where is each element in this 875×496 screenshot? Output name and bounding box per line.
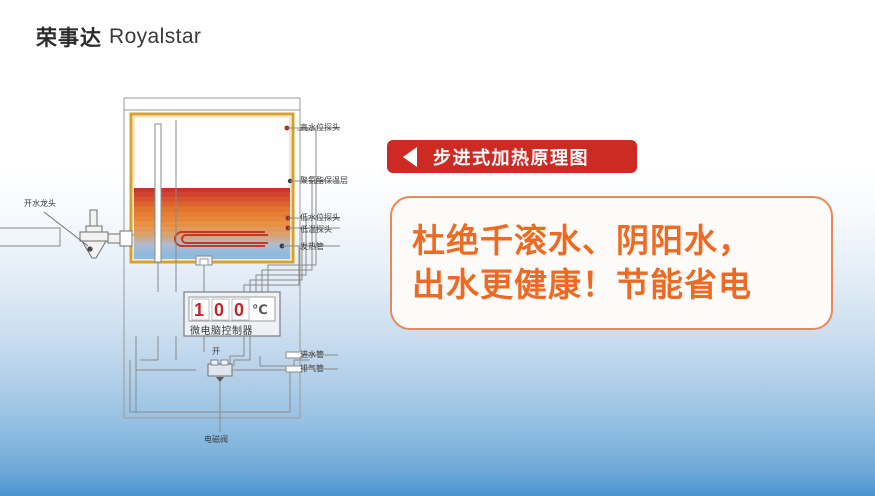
banner-title: 步进式加热原理图 — [433, 144, 589, 170]
label-valve-open: 开 — [212, 346, 220, 357]
label-high-water-probe: 高水位探头 — [300, 122, 340, 133]
controller-caption: 微电脑控制器 — [190, 322, 253, 337]
display-unit: ℃ — [252, 303, 268, 318]
brand-name-cn: 荣事达 — [36, 22, 102, 52]
probe-rod — [155, 124, 161, 262]
section-banner: 步进式加热原理图 — [387, 140, 637, 173]
solenoid-valve — [208, 360, 232, 382]
faucet-leader-line — [44, 212, 88, 246]
slogan-line-1: 杜绝千滚水、阴阳水， — [412, 219, 811, 263]
label-solenoid-valve: 电磁阀 — [204, 434, 228, 445]
label-heating-tube: 发热管 — [300, 241, 324, 252]
triangle-left-icon — [403, 147, 417, 167]
display-digit-3: 0 — [234, 300, 244, 321]
brand-name-en: Royalstar — [109, 25, 201, 49]
display-digit-2: 0 — [214, 300, 224, 321]
slogan-line-2: 出水更健康！节能省电 — [412, 263, 811, 307]
label-low-temp-probe: 低温探头 — [300, 224, 332, 235]
label-low-water-probe: 低水位探头 — [300, 212, 340, 223]
label-exhaust-pipe: 排气管 — [300, 363, 324, 374]
display-digit-1: 1 — [194, 300, 204, 321]
slide-canvas: 荣事达 Royalstar — [0, 0, 875, 496]
label-faucet: 开水龙头 — [24, 198, 56, 209]
label-inlet-pipe: 进水管 — [300, 349, 324, 360]
step-heating-principle-diagram: 开水龙头 高水位探头 聚氨酯保温层 低水位探头 低温探头 发热管 进水管 排气管… — [0, 60, 400, 460]
brand-logo: 荣事达 Royalstar — [36, 22, 201, 52]
label-insulation-layer: 聚氨酯保温层 — [300, 175, 348, 186]
slogan-card: 杜绝千滚水、阴阳水， 出水更健康！节能省电 — [390, 196, 833, 330]
